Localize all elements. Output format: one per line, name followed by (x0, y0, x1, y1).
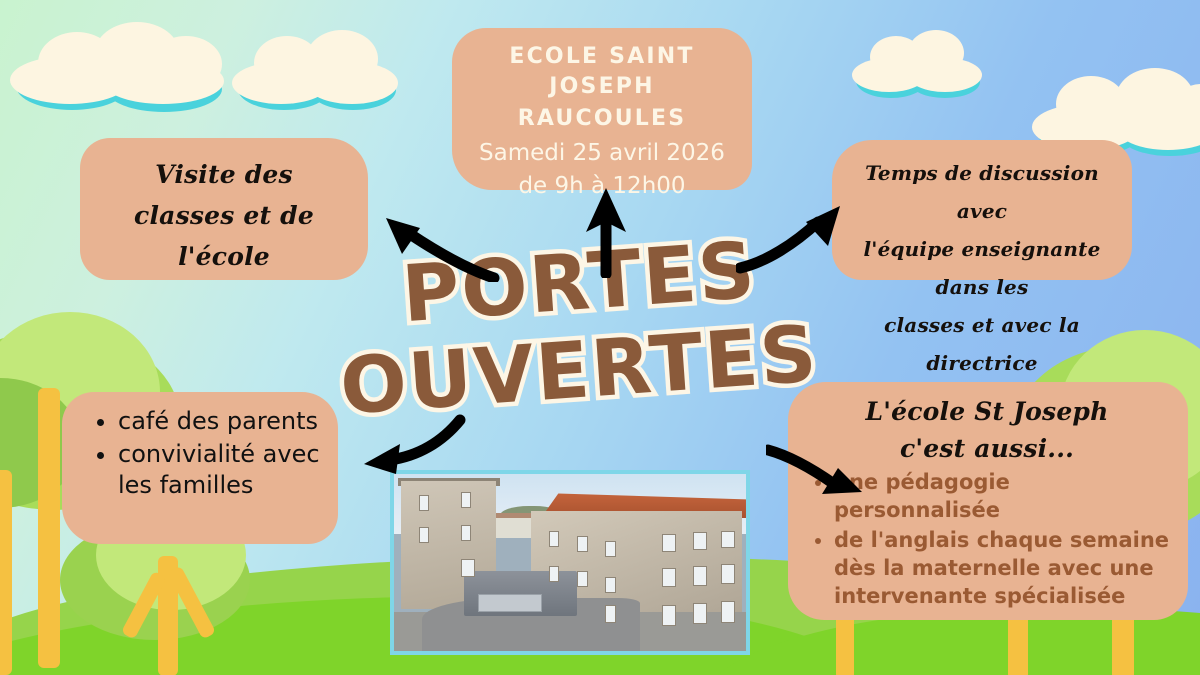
school-photo (390, 470, 750, 655)
cloud-top-right (852, 30, 986, 100)
list-item: convivialité avec les familles (118, 439, 320, 501)
event-date: Samedi 25 avril 2026 (466, 136, 738, 170)
card-temps-discussion: Temps de discussion avec l'équipe enseig… (832, 140, 1132, 280)
visite-line3: l'école (92, 236, 356, 277)
card-visite-classes: Visite des classes et de l'école (80, 138, 368, 280)
cafe-parents-list: café des parents convivialité avec les f… (96, 406, 320, 501)
st-joseph-heading-line1: L'école St Joseph (802, 392, 1172, 432)
discussion-line1: Temps de discussion avec (842, 154, 1122, 230)
list-item: de l'anglais chaque semaine dès la mater… (834, 526, 1172, 610)
cloud-top-left (10, 22, 240, 112)
card-cafe-parents: café des parents convivialité avec les f… (62, 392, 338, 544)
arrow-to-top-left-card (362, 192, 502, 282)
discussion-line3: classes et avec la directrice (842, 306, 1122, 382)
arrow-to-bottom-left-card (342, 408, 467, 480)
visite-line1: Visite des (92, 154, 356, 195)
arrow-to-header-card (578, 186, 634, 278)
list-item: une pédagogie personnalisée (834, 468, 1172, 524)
header-card: ECOLE SAINT JOSEPH RAUCOULES Samedi 25 a… (452, 28, 752, 190)
visite-line2: classes et de (92, 195, 356, 236)
school-name-line1: ECOLE SAINT JOSEPH (466, 42, 738, 102)
arrow-to-top-right-card (736, 196, 846, 276)
poster-canvas: ECOLE SAINT JOSEPH RAUCOULES Samedi 25 a… (0, 0, 1200, 675)
discussion-line2: l'équipe enseignante dans les (842, 230, 1122, 306)
school-name-line2: RAUCOULES (466, 102, 738, 136)
list-item: café des parents (118, 406, 320, 437)
arrow-to-bottom-right-card (766, 440, 872, 506)
cloud-top-left-2 (232, 30, 402, 110)
